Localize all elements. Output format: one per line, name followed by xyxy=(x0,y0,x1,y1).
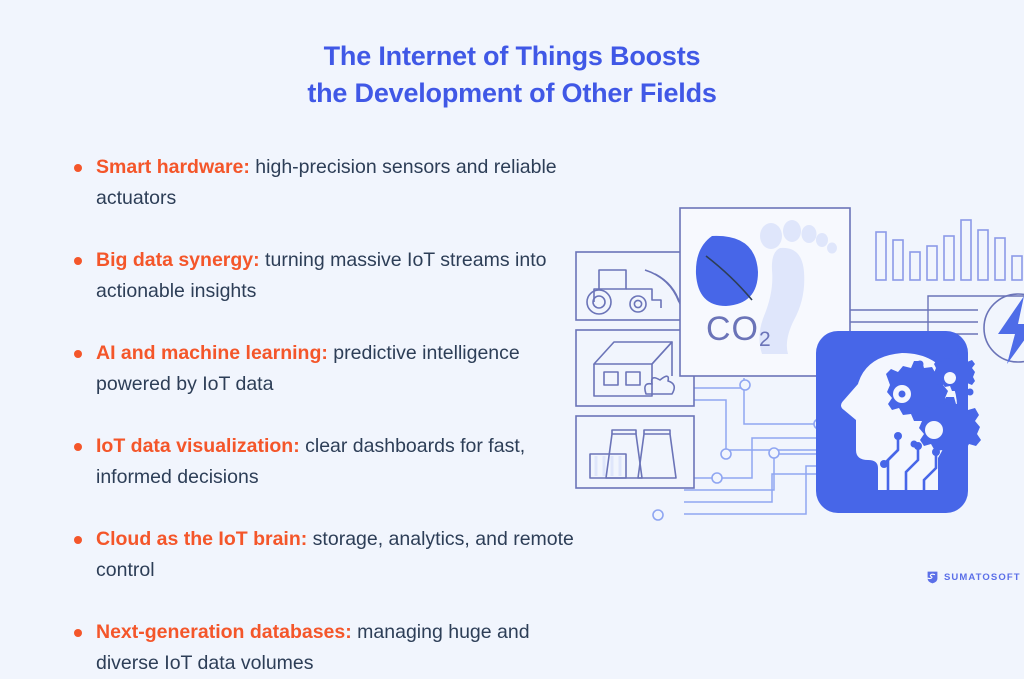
list-item-lead: Big data synergy: xyxy=(96,249,260,271)
sumatosoft-logo-mark xyxy=(926,571,939,584)
smart-home-card xyxy=(576,330,694,406)
list-item-lead: AI and machine learning: xyxy=(96,342,328,364)
bullet-dot-icon xyxy=(74,350,82,358)
list-item: AI and machine learning: predictive inte… xyxy=(62,338,582,400)
bullet-dot-icon xyxy=(74,629,82,637)
page-title-line-2: the Development of Other Fields xyxy=(0,75,1024,112)
list-item: Big data synergy: turning massive IoT st… xyxy=(62,245,582,307)
list-item: Next-generation databases: managing huge… xyxy=(62,617,582,679)
agriculture-tractor-card xyxy=(576,252,684,320)
list-item: Cloud as the IoT brain: storage, analyti… xyxy=(62,524,582,586)
list-item: Smart hardware: high-precision sensors a… xyxy=(62,152,582,214)
bullet-dot-icon xyxy=(74,536,82,544)
power-plant-card xyxy=(576,416,694,488)
ai-brain-card xyxy=(816,331,981,513)
list-item: IoT data visualization: clear dashboards… xyxy=(62,431,582,493)
iot-illustration: CO2 xyxy=(566,188,1024,533)
page-title-line-1: The Internet of Things Boosts xyxy=(0,38,1024,75)
benefits-list: Smart hardware: high-precision sensors a… xyxy=(62,152,582,679)
list-item-lead: Cloud as the IoT brain: xyxy=(96,528,307,550)
bullet-dot-icon xyxy=(74,164,82,172)
infographic-page: The Internet of Things Boosts the Develo… xyxy=(0,0,1024,643)
list-item-lead: IoT data visualization: xyxy=(96,435,300,457)
bullet-dot-icon xyxy=(74,257,82,265)
bullet-dot-icon xyxy=(74,443,82,451)
lightning-bolt-icon xyxy=(984,294,1024,364)
sumatosoft-logo-text: SUMATOSOFT xyxy=(944,572,1021,583)
list-item-lead: Next-generation databases: xyxy=(96,621,352,643)
bar-chart-decoration xyxy=(876,220,1022,280)
list-item-lead: Smart hardware: xyxy=(96,156,250,178)
sumatosoft-logo: SUMATOSOFT xyxy=(926,571,1021,584)
page-title: The Internet of Things Boosts the Develo… xyxy=(0,38,1024,112)
